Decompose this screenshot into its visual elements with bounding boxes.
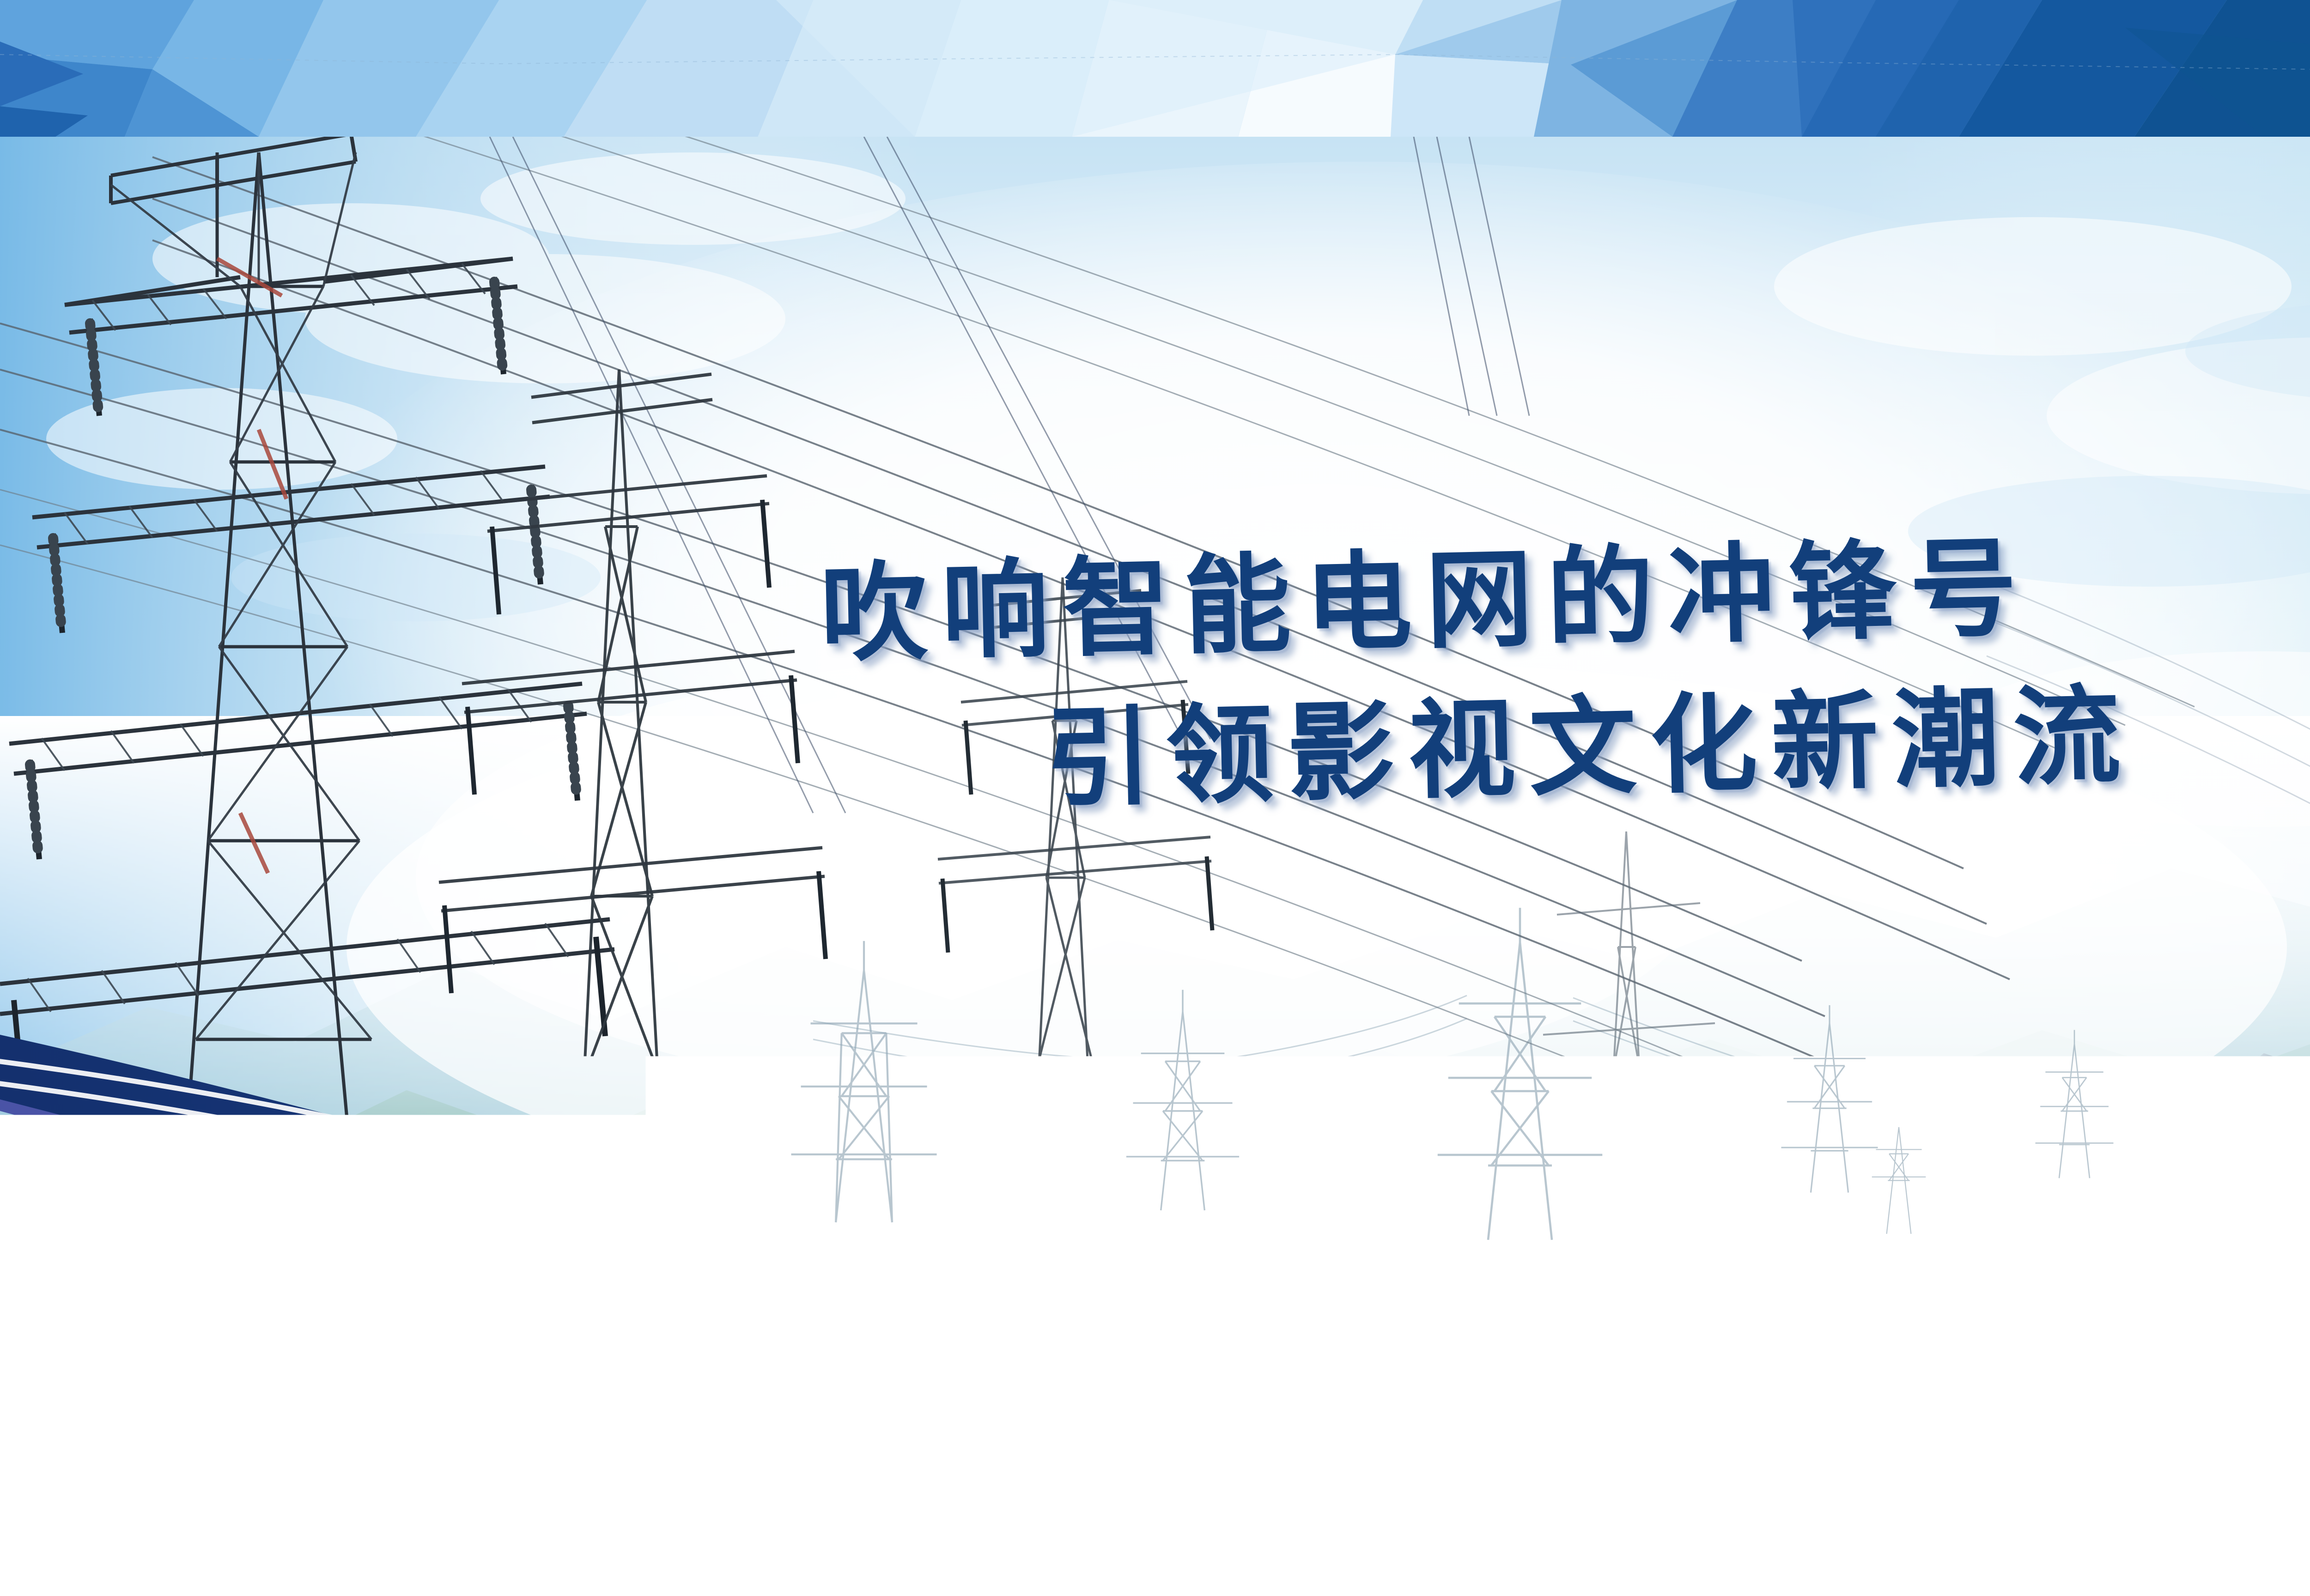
- poster-canvas: 吹响智能电网的冲锋号 引领影视文化新潮流: [0, 0, 2310, 1596]
- wave-ribbons: [0, 0, 2310, 1596]
- low-poly-header-band: [0, 0, 2310, 137]
